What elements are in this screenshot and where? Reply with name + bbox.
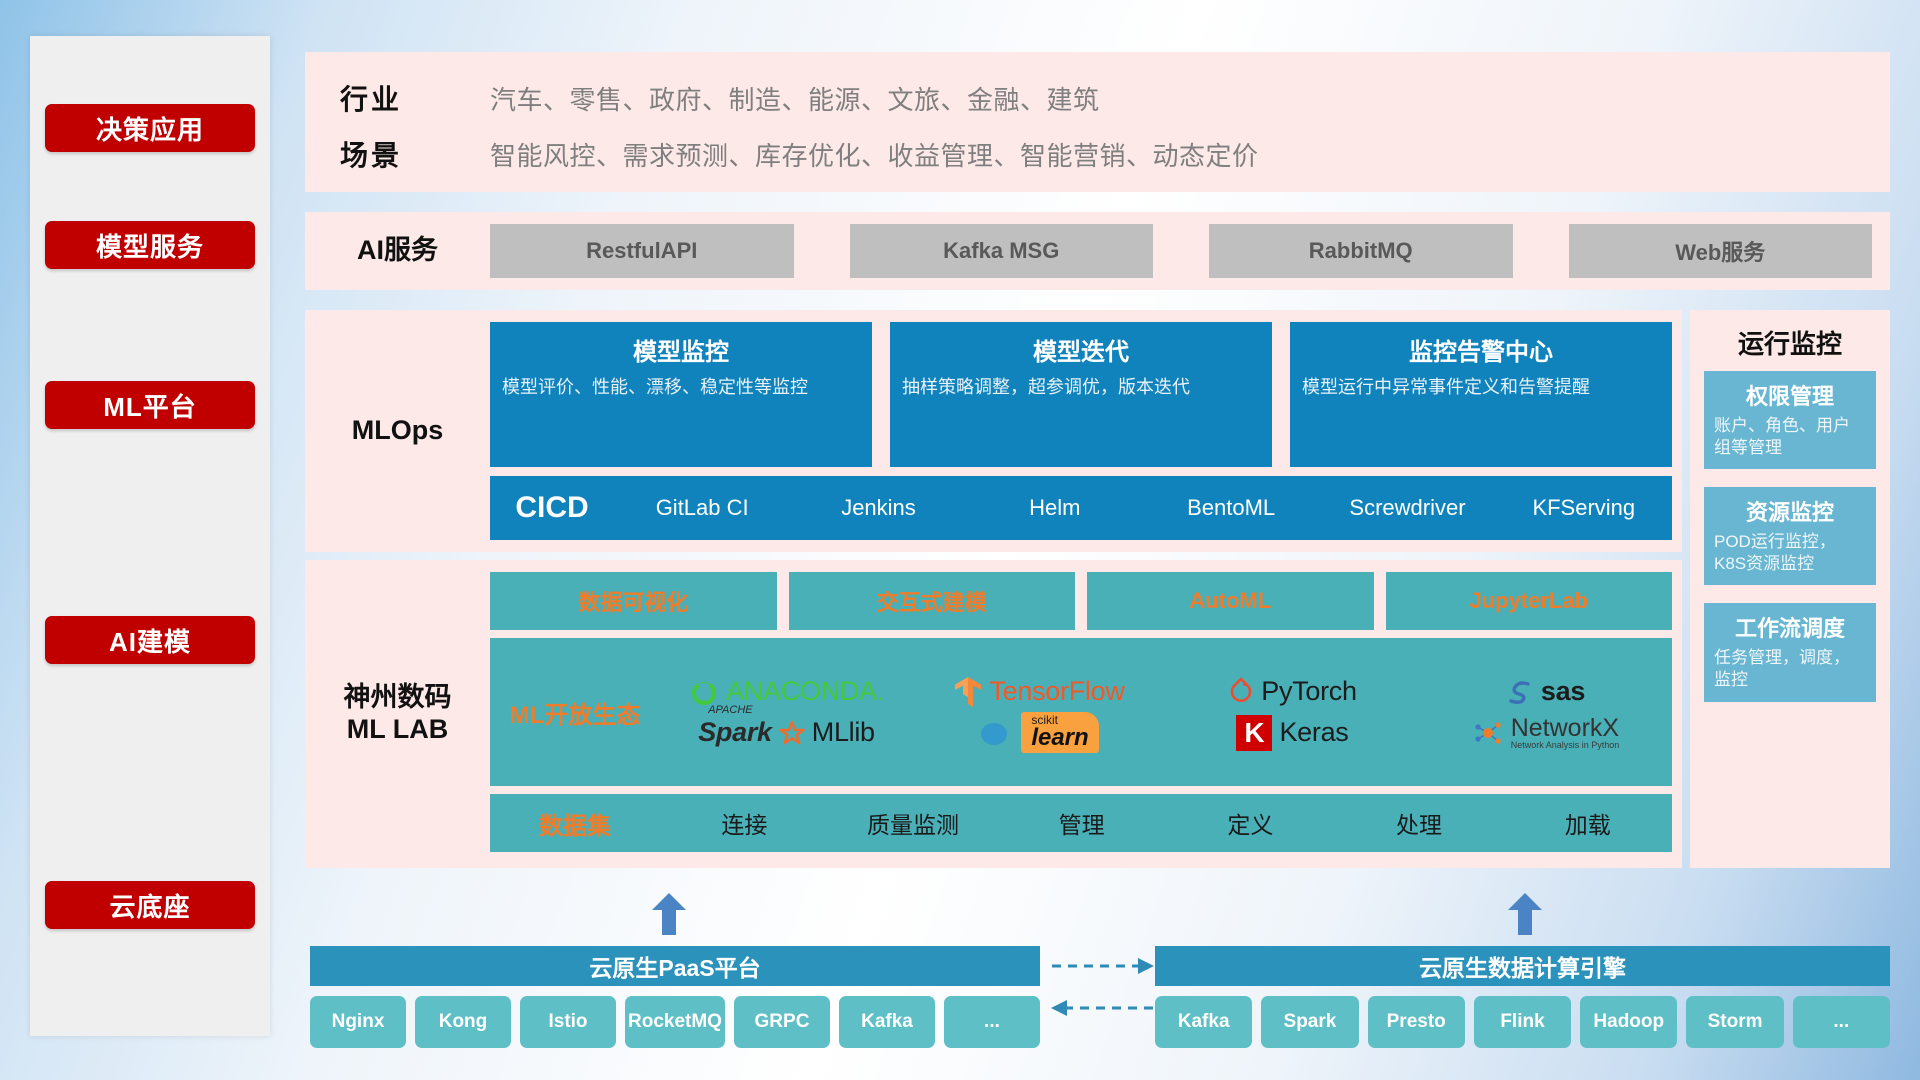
scenario-value: 智能风控、需求预测、库存优化、收益管理、智能营销、动态定价 bbox=[490, 136, 1259, 173]
dataset-item-manage[interactable]: 管理 bbox=[997, 806, 1166, 840]
bidirectional-dashed-arrows bbox=[1050, 954, 1155, 1020]
monitoring-card-resource[interactable]: 资源监控 POD运行监控，K8S资源监控 bbox=[1704, 487, 1876, 585]
tensorflow-icon bbox=[954, 676, 982, 708]
keras-label: Keras bbox=[1279, 717, 1348, 748]
ai-service-chip-list: RestfulAPI Kafka MSG RabbitMQ Web服务 bbox=[490, 224, 1872, 278]
dataset-bar: 数据集 连接 质量监测 管理 定义 处理 加载 bbox=[490, 794, 1672, 852]
pytorch-label: PyTorch bbox=[1261, 676, 1356, 707]
stage-chip-ml-platform[interactable]: ML平台 bbox=[45, 381, 255, 429]
tensorflow-logo: TensorFlow bbox=[913, 676, 1166, 708]
mlops-card-model-iteration[interactable]: 模型迭代 抽样策略调整，超参调优，版本迭代 bbox=[890, 322, 1272, 467]
ai-service-chip-restfulapi[interactable]: RestfulAPI bbox=[490, 224, 794, 278]
cloud-data-engine-group: 云原生数据计算引擎 Kafka Spark Presto Flink Hadoo… bbox=[1155, 946, 1890, 1048]
anaconda-icon bbox=[689, 677, 719, 707]
cloud-chip-kong[interactable]: Kong bbox=[415, 996, 511, 1048]
up-arrow-icon-left bbox=[652, 893, 686, 935]
pytorch-icon bbox=[1228, 677, 1254, 707]
ai-service-label: AI服务 bbox=[305, 212, 490, 290]
card-title: 监控告警中心 bbox=[1302, 332, 1660, 367]
stage-chip-model-service[interactable]: 模型服务 bbox=[45, 221, 255, 269]
networkx-icon bbox=[1472, 718, 1504, 748]
ml-lab-band: 神州数码 ML LAB 数据可视化 交互式建模 AutoML JupyterLa… bbox=[305, 560, 1682, 868]
dataset-title: 数据集 bbox=[490, 806, 660, 841]
cicd-item-gitlab-ci[interactable]: GitLab CI bbox=[614, 497, 790, 519]
ml-lab-tab-automl[interactable]: AutoML bbox=[1087, 572, 1374, 630]
cloud-data-engine-chip-list: Kafka Spark Presto Flink Hadoop Storm ..… bbox=[1155, 986, 1890, 1048]
pytorch-logo: PyTorch bbox=[1166, 676, 1419, 707]
data-chip-hadoop[interactable]: Hadoop bbox=[1580, 996, 1677, 1048]
scenario-row: 场景 智能风控、需求预测、库存优化、收益管理、智能营销、动态定价 bbox=[340, 134, 1870, 174]
spark-mllib-logo: APACHE Spark MLlib bbox=[660, 717, 913, 748]
cicd-item-screwdriver[interactable]: Screwdriver bbox=[1319, 497, 1495, 519]
dataset-item-process[interactable]: 处理 bbox=[1335, 806, 1504, 840]
ai-service-chip-kafka-msg[interactable]: Kafka MSG bbox=[850, 224, 1154, 278]
dataset-item-load[interactable]: 加载 bbox=[1503, 806, 1672, 840]
data-chip-spark[interactable]: Spark bbox=[1261, 996, 1358, 1048]
cloud-paas-group: 云原生PaaS平台 Nginx Kong Istio RocketMQ GRPC… bbox=[310, 946, 1040, 1048]
runtime-monitoring-panel: 运行监控 权限管理 账户、角色、用户组等管理 资源监控 POD运行监控，K8S资… bbox=[1690, 310, 1890, 868]
stage-rail: 决策应用 模型服务 ML平台 AI建模 云底座 bbox=[30, 36, 270, 1036]
ml-lab-label: 神州数码 ML LAB bbox=[305, 560, 490, 868]
card-desc: 账户、角色、用户组等管理 bbox=[1714, 415, 1866, 459]
ml-lab-tab-jupyterlab[interactable]: JupyterLab bbox=[1386, 572, 1673, 630]
cloud-data-engine-title: 云原生数据计算引擎 bbox=[1155, 946, 1890, 986]
cloud-chip-kafka[interactable]: Kafka bbox=[839, 996, 935, 1048]
mllib-label: MLlib bbox=[812, 717, 875, 748]
scikit-blue-blob-icon bbox=[980, 718, 1014, 748]
card-desc: 抽样策略调整，超参调优，版本迭代 bbox=[902, 375, 1260, 399]
ml-ecosystem-logo-grid: ANACONDA. TensorFlow PyTorch bbox=[660, 671, 1672, 753]
ai-service-chip-rabbitmq[interactable]: RabbitMQ bbox=[1209, 224, 1513, 278]
ai-service-band: AI服务 RestfulAPI Kafka MSG RabbitMQ Web服务 bbox=[305, 212, 1890, 290]
ml-lab-label-line2: ML LAB bbox=[344, 714, 452, 746]
cicd-title: CICD bbox=[490, 491, 614, 525]
ml-lab-tab-data-visualization[interactable]: 数据可视化 bbox=[490, 572, 777, 630]
sas-label: sas bbox=[1541, 676, 1585, 707]
cloud-paas-chip-list: Nginx Kong Istio RocketMQ GRPC Kafka ... bbox=[310, 986, 1040, 1048]
anaconda-logo: ANACONDA. bbox=[660, 676, 913, 707]
cloud-chip-more[interactable]: ... bbox=[944, 996, 1040, 1048]
cicd-bar: CICD GitLab CI Jenkins Helm BentoML Scre… bbox=[490, 476, 1672, 540]
data-chip-presto[interactable]: Presto bbox=[1368, 996, 1465, 1048]
card-title: 模型监控 bbox=[502, 332, 860, 367]
card-desc: 模型运行中异常事件定义和告警提醒 bbox=[1302, 375, 1660, 399]
data-chip-kafka[interactable]: Kafka bbox=[1155, 996, 1252, 1048]
ai-service-chip-web[interactable]: Web服务 bbox=[1569, 224, 1873, 278]
tensorflow-label: TensorFlow bbox=[989, 676, 1124, 707]
data-chip-storm[interactable]: Storm bbox=[1686, 996, 1783, 1048]
mlops-label: MLOps bbox=[305, 310, 490, 552]
cloud-chip-nginx[interactable]: Nginx bbox=[310, 996, 406, 1048]
ml-lab-tab-list: 数据可视化 交互式建模 AutoML JupyterLab bbox=[490, 572, 1672, 630]
ml-ecosystem-label: ML开放生态 bbox=[490, 695, 660, 730]
cicd-item-bentoml[interactable]: BentoML bbox=[1143, 497, 1319, 519]
stage-chip-decision[interactable]: 决策应用 bbox=[45, 104, 255, 152]
ml-ecosystem-row: ML开放生态 ANACONDA. TensorFlow bbox=[490, 638, 1672, 786]
cloud-paas-title: 云原生PaaS平台 bbox=[310, 946, 1040, 986]
card-title: 工作流调度 bbox=[1714, 611, 1866, 643]
stage-chip-cloud-base[interactable]: 云底座 bbox=[45, 881, 255, 929]
keras-mark-icon: K bbox=[1236, 715, 1272, 751]
data-chip-more[interactable]: ... bbox=[1793, 996, 1890, 1048]
card-desc: POD运行监控，K8S资源监控 bbox=[1714, 531, 1866, 575]
card-desc: 模型评价、性能、漂移、稳定性等监控 bbox=[502, 375, 860, 399]
mlops-card-alert-center[interactable]: 监控告警中心 模型运行中异常事件定义和告警提醒 bbox=[1290, 322, 1672, 467]
industry-row: 行业 汽车、零售、政府、制造、能源、文旅、金融、建筑 bbox=[340, 78, 1870, 118]
keras-logo: K Keras bbox=[1166, 715, 1419, 751]
industry-value: 汽车、零售、政府、制造、能源、文旅、金融、建筑 bbox=[490, 80, 1100, 117]
mlops-band: MLOps 模型监控 模型评价、性能、漂移、稳定性等监控 模型迭代 抽样策略调整… bbox=[305, 310, 1682, 552]
spark-apache-label: APACHE bbox=[708, 704, 752, 716]
dataset-item-quality[interactable]: 质量监测 bbox=[829, 806, 998, 840]
data-chip-flink[interactable]: Flink bbox=[1474, 996, 1571, 1048]
dataset-item-connect[interactable]: 连接 bbox=[660, 806, 829, 840]
networkx-logo: NetworkX Network Analysis in Python bbox=[1419, 716, 1672, 750]
card-title: 模型迭代 bbox=[902, 332, 1260, 367]
applications-band: 行业 汽车、零售、政府、制造、能源、文旅、金融、建筑 场景 智能风控、需求预测、… bbox=[305, 52, 1890, 192]
stage-chip-ai-modeling[interactable]: AI建模 bbox=[45, 616, 255, 664]
networkx-label: NetworkX bbox=[1511, 716, 1620, 741]
card-title: 权限管理 bbox=[1714, 379, 1866, 411]
runtime-monitoring-title: 运行监控 bbox=[1690, 310, 1890, 371]
ml-lab-label-line1: 神州数码 bbox=[344, 682, 452, 714]
cloud-chip-istio[interactable]: Istio bbox=[520, 996, 616, 1048]
scikit-learn-logo: scikit learn bbox=[913, 712, 1166, 753]
ml-lab-tab-interactive-modeling[interactable]: 交互式建模 bbox=[789, 572, 1076, 630]
learn-label: learn bbox=[1031, 726, 1088, 750]
spark-star-icon bbox=[779, 720, 805, 746]
anaconda-label: ANACONDA. bbox=[726, 676, 884, 707]
mlops-card-model-monitoring[interactable]: 模型监控 模型评价、性能、漂移、稳定性等监控 bbox=[490, 322, 872, 467]
networkx-tagline: Network Analysis in Python bbox=[1511, 741, 1620, 750]
industry-label: 行业 bbox=[340, 78, 490, 118]
scenario-label: 场景 bbox=[340, 134, 490, 174]
cloud-chip-rocketmq[interactable]: RocketMQ bbox=[625, 996, 725, 1048]
card-desc: 任务管理，调度，监控 bbox=[1714, 647, 1866, 691]
cicd-item-kfserving[interactable]: KFServing bbox=[1496, 497, 1672, 519]
cicd-item-helm[interactable]: Helm bbox=[967, 497, 1143, 519]
mlops-card-list: 模型监控 模型评价、性能、漂移、稳定性等监控 模型迭代 抽样策略调整，超参调优，… bbox=[490, 322, 1672, 467]
spark-label: Spark bbox=[698, 717, 772, 747]
cicd-item-jenkins[interactable]: Jenkins bbox=[790, 497, 966, 519]
up-arrow-icon-right bbox=[1508, 893, 1542, 935]
sas-logo: sas bbox=[1419, 676, 1672, 707]
card-title: 资源监控 bbox=[1714, 495, 1866, 527]
monitoring-card-workflow[interactable]: 工作流调度 任务管理，调度，监控 bbox=[1704, 603, 1876, 701]
dataset-item-define[interactable]: 定义 bbox=[1166, 806, 1335, 840]
monitoring-card-permission[interactable]: 权限管理 账户、角色、用户组等管理 bbox=[1704, 371, 1876, 469]
sas-icon bbox=[1506, 678, 1534, 706]
cloud-chip-grpc[interactable]: GRPC bbox=[734, 996, 830, 1048]
